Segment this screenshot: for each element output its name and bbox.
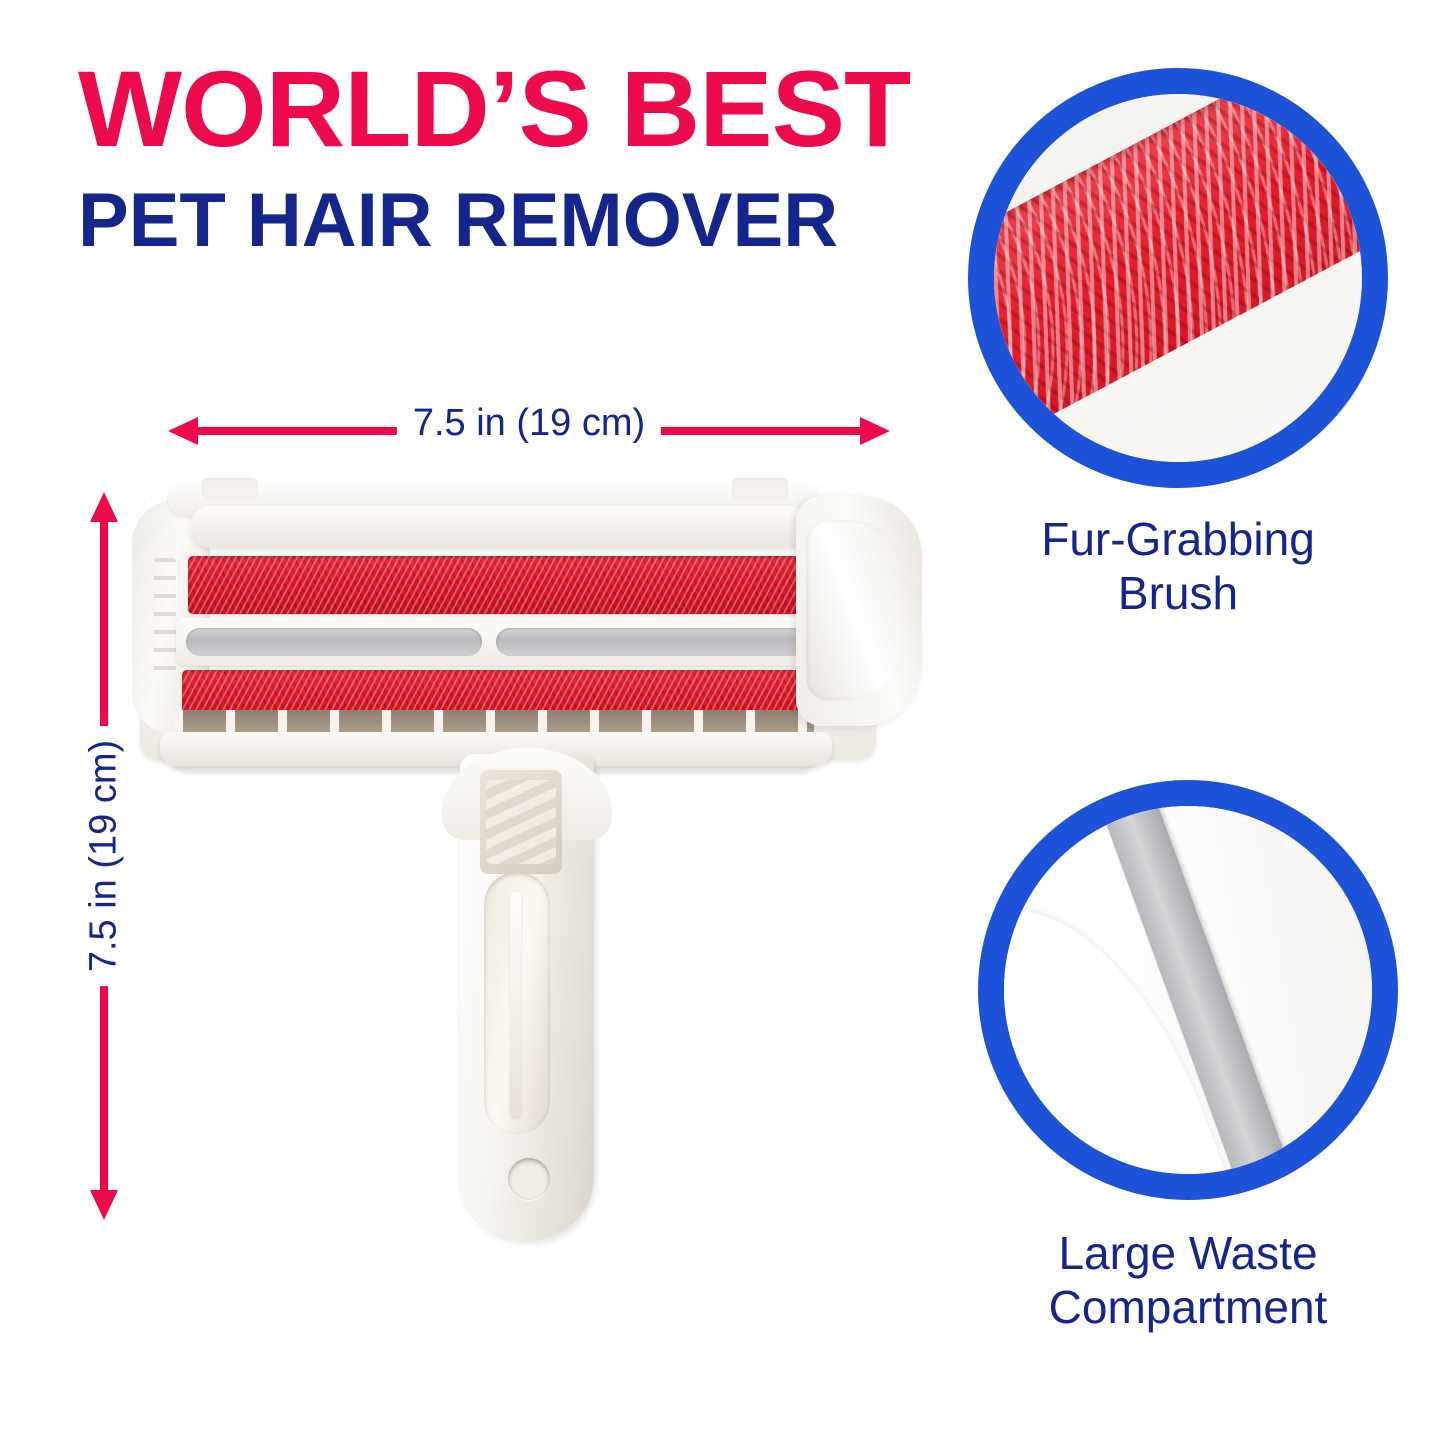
end-cap-vents [154,558,176,678]
end-cap-knob [806,520,902,700]
roller-end-cap-right [796,496,922,726]
height-dimension-label: 7.5 in (19 cm) [83,726,126,986]
callout-caption-top-line2: Brush [954,566,1402,620]
callout-caption-bottom: Large Waste Compartment [954,1226,1422,1335]
squeegee-bar-left [186,628,482,656]
headline-line-2: PET HAIR REMOVER [78,183,918,259]
width-dimension-label: 7.5 in (19 cm) [397,402,661,445]
callout-caption-bottom-line1: Large Waste [954,1226,1422,1280]
infographic-canvas: WORLD’S BEST PET HAIR REMOVER 7.5 in (19… [0,0,1445,1445]
brush-closeup-photo [994,94,1362,462]
roller-lid-lower [190,506,810,548]
waste-compartment-closeup-photo [1004,806,1372,1174]
headline-block: WORLD’S BEST PET HAIR REMOVER [78,58,918,259]
callout-caption-bottom-line2: Compartment [954,1280,1422,1334]
callout-ring-top [968,68,1388,488]
squeegee-band [176,618,820,666]
handle-grip-rib [510,892,521,1118]
handle-inner-ribs [486,780,556,864]
callout-caption-top-line1: Fur-Grabbing [954,512,1402,566]
callout-ring-bottom [978,780,1398,1200]
height-dimension: 7.5 in (19 cm) [74,492,134,1220]
width-dimension: 7.5 in (19 cm) [168,408,890,454]
handle-hang-hole [508,1158,550,1200]
roller-head [132,470,922,770]
product-handle [432,754,622,1240]
headline-line-1: WORLD’S BEST [78,58,935,161]
product-image [132,470,922,1240]
lid-notch-right [732,478,788,500]
brush-photo-scene [994,94,1362,462]
brush-strip-top [188,556,810,614]
waste-photo-scene [1004,806,1372,1174]
handle-inner-mechanism [480,770,562,874]
lid-notch-left [202,478,258,500]
squeegee-bar-right [496,628,806,656]
callout-caption-top: Fur-Grabbing Brush [954,512,1402,621]
